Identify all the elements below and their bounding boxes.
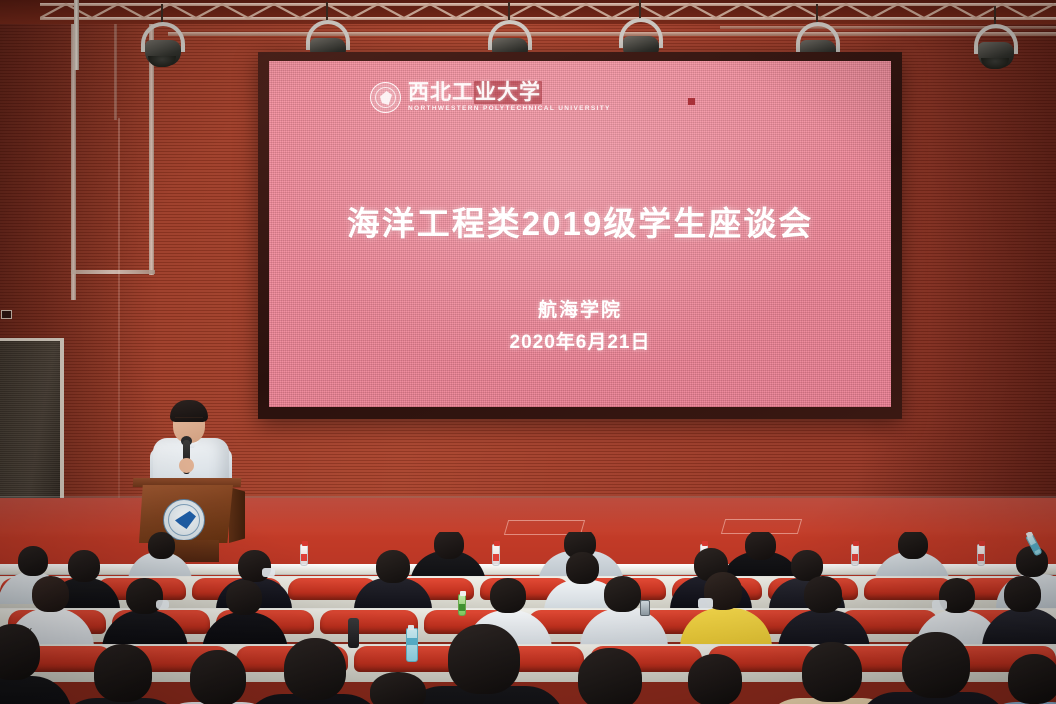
person-head: [688, 654, 742, 704]
person-head: [434, 532, 464, 559]
person-head: [370, 672, 426, 704]
lighting-truss: [40, 2, 1056, 20]
person-head: [898, 532, 928, 559]
person-head: [148, 532, 175, 559]
face-mask: [262, 568, 275, 577]
face-mask: [698, 598, 713, 609]
bottle-cap: [302, 541, 308, 546]
face-mask: [932, 600, 947, 610]
stage-spotlight: [968, 24, 1024, 72]
person-head: [190, 650, 246, 704]
bottle-cap: [1026, 532, 1034, 538]
university-name-cn: 西北工业大学: [408, 82, 611, 103]
person-head: [94, 644, 152, 702]
presenter-hand: [179, 458, 194, 473]
logo-highlight: 业大学: [474, 81, 542, 104]
black-flask: [348, 618, 359, 648]
person-head: [490, 578, 526, 613]
person-head: [1008, 654, 1056, 704]
presenter-glasses-icon: [175, 417, 203, 423]
person-head: [68, 550, 100, 582]
person-head: [32, 576, 69, 612]
water-bottle: [492, 544, 500, 566]
bottle-label: [1031, 543, 1040, 552]
light-hanger: [994, 6, 996, 26]
photo-scene: 西北工业大学 NORTHWESTERN POLYTECHNICAL UNIVER…: [0, 0, 1056, 704]
bottle-cap: [702, 541, 708, 546]
bottle-label: [978, 554, 984, 561]
person-head: [804, 576, 842, 613]
bottle-cap: [853, 541, 859, 546]
green-bottle: [458, 594, 466, 616]
bottle-label: [407, 638, 417, 645]
bottle-label: [301, 554, 307, 561]
bottle-cap: [979, 541, 985, 546]
wall-panel-edge: [118, 118, 120, 538]
university-logo: 西北工业大学 NORTHWESTERN POLYTECHNICAL UNIVER…: [370, 82, 611, 113]
water-bottle: [977, 544, 985, 566]
light-lens: [148, 56, 176, 67]
light-hanger: [508, 2, 510, 22]
slide-title: 海洋工程类2019级学生座谈会: [269, 197, 891, 245]
audience-area: KLAY: [0, 532, 1056, 704]
light-lens: [981, 58, 1009, 69]
person-head: [448, 624, 520, 694]
bottle-cap: [408, 625, 414, 630]
slide-subtitle-org: 航海学院: [269, 295, 891, 322]
person-head: [578, 648, 642, 704]
person-head: [802, 642, 862, 702]
bottle-label: [493, 554, 499, 561]
person-head: [18, 546, 48, 576]
smartphone[interactable]: [640, 600, 650, 616]
slide-subtitle-date: 2020年6月21日: [269, 327, 891, 354]
face-mask: [156, 600, 169, 609]
led-screen-frame: 西北工业大学 NORTHWESTERN POLYTECHNICAL UNIVER…: [258, 52, 902, 419]
wall-trim-strip: [71, 270, 155, 274]
person-head: [284, 638, 346, 700]
red-pixel-artifact: [688, 98, 695, 105]
bottle-label: [459, 604, 465, 611]
bottle-cap: [494, 541, 500, 546]
auditorium-seat[interactable]: [320, 610, 418, 634]
water-bottle: [300, 544, 308, 566]
light-hanger: [816, 4, 818, 24]
truss-zigzag-icon: [40, 2, 1056, 20]
bottle-cap: [460, 591, 466, 596]
wall-fixture-plate: [1, 310, 12, 319]
person-head: [745, 532, 776, 560]
ceiling-support-mast: [74, 0, 79, 70]
university-name-en: NORTHWESTERN POLYTECHNICAL UNIVERSITY: [408, 106, 611, 113]
person-head: [238, 550, 271, 582]
person-head: [226, 580, 262, 615]
person-head: [376, 550, 410, 583]
cyan-bottle: [406, 628, 418, 662]
person-head: [566, 552, 599, 584]
university-seal-icon: [370, 82, 401, 113]
light-hanger: [161, 4, 163, 24]
water-bottle: [851, 544, 859, 566]
person-head: [902, 632, 970, 698]
led-screen: 西北工业大学 NORTHWESTERN POLYTECHNICAL UNIVER…: [269, 61, 891, 407]
light-hanger: [639, 0, 641, 20]
person-head: [604, 576, 641, 612]
university-logo-text: 西北工业大学 NORTHWESTERN POLYTECHNICAL UNIVER…: [408, 82, 611, 113]
bottle-label: [852, 554, 858, 561]
person-head: [1004, 576, 1041, 612]
stage-spotlight: [135, 22, 191, 70]
light-hanger: [326, 2, 328, 22]
